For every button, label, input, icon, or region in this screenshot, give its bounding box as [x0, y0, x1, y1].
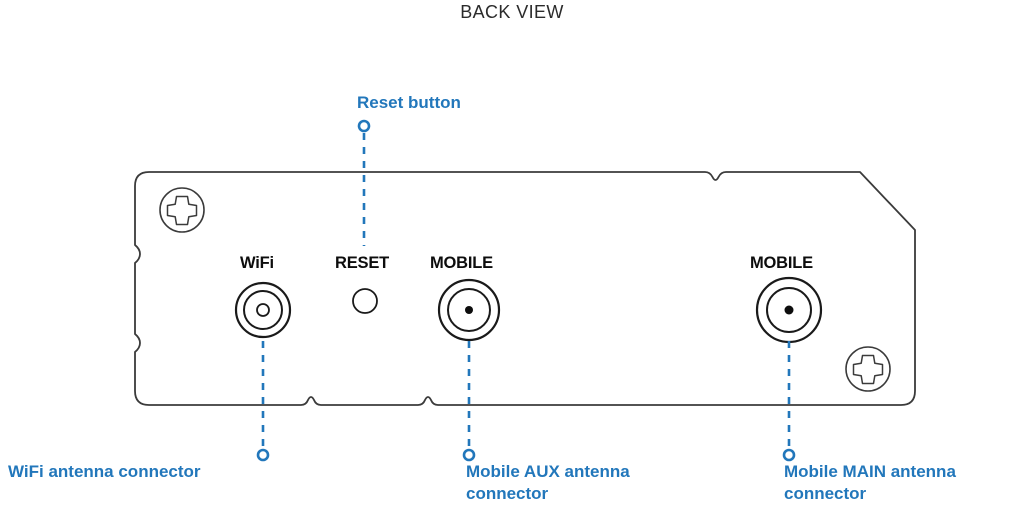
screw-bottom-right	[846, 347, 890, 391]
callout-leader-reset-button	[359, 121, 369, 246]
screw-top-left	[160, 188, 204, 232]
port-label-wifi: WiFi	[240, 254, 274, 273]
callout-label-reset-button: Reset button	[357, 92, 461, 114]
callout-label-mobile-main-antenna-connector: Mobile MAIN antenna connector	[784, 461, 956, 506]
device-illustration	[0, 0, 1024, 511]
port-label-mobile-main: MOBILE	[750, 254, 813, 273]
back-view-diagram: BACK VIEW	[0, 0, 1024, 511]
port-label-mobile-aux: MOBILE	[430, 254, 493, 273]
mobile-aux-connector[interactable]	[439, 280, 499, 340]
wifi-connector[interactable]	[236, 283, 290, 337]
callout-label-mobile-aux-antenna-connector: Mobile AUX antenna connector	[466, 461, 630, 506]
callout-leader-mobile-aux-antenna-connector	[464, 341, 474, 460]
reset-hole[interactable]	[353, 289, 377, 313]
callout-leader-mobile-main-antenna-connector	[784, 341, 794, 460]
callout-leader-wifi-antenna-connector	[258, 341, 268, 460]
mobile-main-connector[interactable]	[757, 278, 821, 342]
callout-label-wifi-antenna-connector: WiFi antenna connector	[8, 461, 201, 483]
port-label-reset: RESET	[335, 254, 389, 273]
